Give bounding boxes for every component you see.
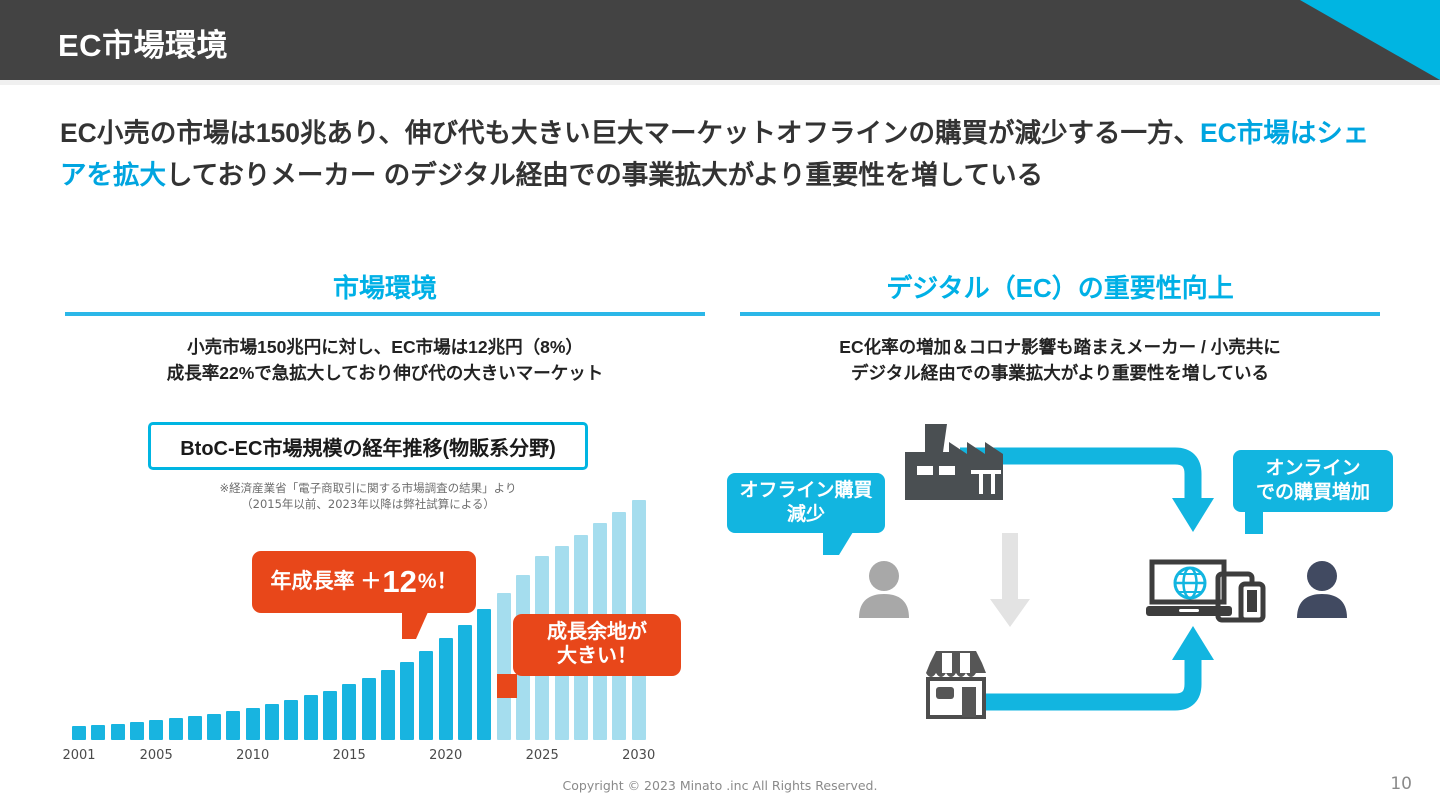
header-divider bbox=[0, 80, 1440, 85]
chart-bar bbox=[284, 700, 298, 740]
left-subtitle-line1: 小売市場150兆円に対し、EC市場は12兆円（8%） bbox=[65, 334, 705, 360]
slide-root: EC市場環境 EC小売の市場は150兆あり、伸び代も大きい巨大マーケットオフライ… bbox=[0, 0, 1440, 808]
footer-copyright: Copyright © 2023 Minato .inc All Rights … bbox=[0, 778, 1440, 793]
header-accent-triangle bbox=[1240, 0, 1440, 80]
storefront-icon bbox=[916, 645, 996, 719]
lead-paragraph: EC小売の市場は150兆あり、伸び代も大きい巨大マーケットオフラインの購買が減少… bbox=[60, 112, 1390, 196]
chart-bar bbox=[304, 695, 318, 740]
callout-headroom-line1: 成長余地が bbox=[547, 621, 647, 645]
chart-bar bbox=[477, 609, 491, 740]
chart-bar bbox=[246, 708, 260, 740]
right-subtitle-line1: EC化率の増加＆コロナ影響も踏まえメーカー / 小売共に bbox=[740, 334, 1380, 360]
arrowhead-down-icon bbox=[1172, 498, 1214, 532]
chart-title-box: BtoC-EC市場規模の経年推移(物販系分野) bbox=[148, 422, 588, 470]
chart-bar bbox=[497, 593, 511, 740]
axis-tick-label: 2005 bbox=[140, 748, 173, 763]
chart-bar bbox=[381, 670, 395, 740]
chart-bar bbox=[362, 678, 376, 740]
chart-bar bbox=[419, 651, 433, 740]
axis-tick-label: 2030 bbox=[622, 748, 655, 763]
chart-bar bbox=[265, 704, 279, 740]
chart-bar bbox=[111, 724, 125, 740]
offline-bubble-line1: オフライン購買 bbox=[739, 479, 872, 503]
chart-bar bbox=[188, 716, 202, 740]
callout-annual-growth: 年成長率 ＋12%！ bbox=[252, 551, 476, 613]
chart-bar bbox=[91, 725, 105, 740]
right-column-subtitle: EC化率の増加＆コロナ影響も踏まえメーカー / 小売共に デジタル経由での事業拡… bbox=[740, 334, 1380, 386]
axis-tick-label: 2015 bbox=[333, 748, 366, 763]
online-bubble-line2: での購買増加 bbox=[1256, 481, 1370, 505]
right-column-rule bbox=[740, 312, 1380, 316]
axis-tick-label: 2001 bbox=[62, 748, 95, 763]
chart-bar bbox=[400, 662, 414, 740]
left-column-subtitle: 小売市場150兆円に対し、EC市場は12兆円（8%） 成長率22%で急拡大してお… bbox=[65, 334, 705, 386]
bubble-tail bbox=[823, 532, 853, 555]
chart-bar bbox=[439, 638, 453, 740]
left-column-rule bbox=[65, 312, 705, 316]
left-subtitle-line2: 成長率22%で急拡大しており伸び代の大きいマーケット bbox=[65, 360, 705, 386]
offline-bubble-line2: 減少 bbox=[739, 503, 872, 527]
lead-part1: EC小売の市場は150兆あり、伸び代も大きい巨大マーケットオフラインの購買が減少… bbox=[60, 118, 1200, 148]
factory-icon bbox=[903, 422, 1009, 504]
page-title: EC市場環境 bbox=[58, 20, 228, 65]
chart-bar bbox=[149, 720, 163, 740]
chart-bar bbox=[342, 684, 356, 740]
slide-header: EC市場環境 bbox=[0, 0, 1440, 80]
axis-tick-label: 2020 bbox=[429, 748, 462, 763]
chart-bar bbox=[323, 691, 337, 740]
page-number: 10 bbox=[1390, 774, 1412, 794]
callout-tail bbox=[497, 674, 517, 698]
chart-bar bbox=[72, 726, 86, 740]
online-bubble-line1: オンライン bbox=[1256, 457, 1370, 481]
chart-bar bbox=[130, 722, 144, 740]
lead-part2: しておりメーカー のデジタル経由での事業拡大がより重要性を増している bbox=[166, 160, 1043, 190]
arrowhead-up-icon bbox=[1172, 626, 1214, 660]
right-column-heading: デジタル（EC）の重要性向上 bbox=[740, 268, 1380, 305]
bubble-offline-decrease: オフライン購買 減少 bbox=[727, 473, 885, 533]
devices-globe-icon bbox=[1146, 556, 1268, 626]
callout-growth-num: 12 bbox=[382, 564, 416, 601]
chart-bar bbox=[226, 711, 240, 740]
right-subtitle-line2: デジタル経由での事業拡大がより重要性を増している bbox=[740, 360, 1380, 386]
chart-bar bbox=[458, 625, 472, 740]
bubble-online-increase: オンライン での購買増加 bbox=[1233, 450, 1393, 512]
arrow-down-gray-icon bbox=[988, 533, 1032, 629]
person-gray-icon bbox=[856, 560, 912, 618]
bubble-tail bbox=[1245, 511, 1263, 534]
callout-growth-headroom: 成長余地が 大きい！ bbox=[513, 614, 681, 676]
callout-tail bbox=[402, 612, 428, 639]
left-column-heading: 市場環境 bbox=[65, 268, 705, 305]
callout-headroom-line2: 大きい！ bbox=[547, 645, 647, 669]
callout-growth-pre: 年成長率 ＋ bbox=[270, 570, 381, 595]
axis-tick-label: 2010 bbox=[236, 748, 269, 763]
callout-growth-post: %！ bbox=[418, 570, 458, 595]
axis-tick-label: 2025 bbox=[526, 748, 559, 763]
person-navy-icon bbox=[1294, 560, 1350, 618]
chart-bar bbox=[207, 714, 221, 740]
chart-x-axis: 2001200520102015202020252030 bbox=[66, 748, 666, 768]
chart-bar bbox=[169, 718, 183, 740]
